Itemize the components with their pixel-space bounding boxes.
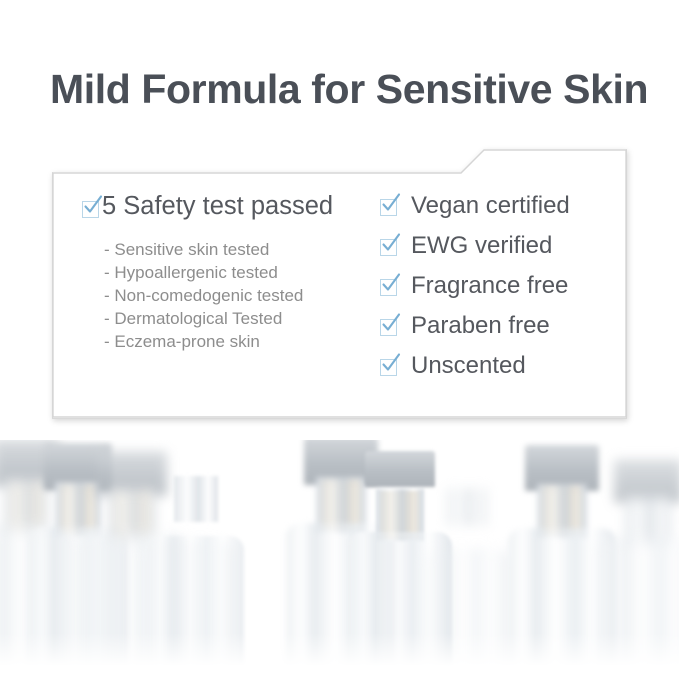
safety-column: 5 Safety test passed - Sensitive skin te… (82, 194, 382, 353)
check-glyph (380, 353, 402, 375)
safety-heading-row: 5 Safety test passed (82, 194, 382, 220)
checkbox-checked-icon (380, 239, 397, 256)
safety-heading-label: 5 Safety test passed (102, 194, 333, 220)
page-title: Mild Formula for Sensitive Skin (50, 66, 648, 113)
list-item: - Sensitive skin tested (104, 238, 382, 261)
list-item: - Dermatological Tested (104, 307, 382, 330)
product-claims-infographic: Mild Formula for Sensitive Skin 5 Safety… (0, 0, 679, 679)
check-glyph (380, 233, 402, 255)
checkbox-checked-icon (380, 199, 397, 216)
check-glyph (380, 193, 402, 215)
claims-list: Vegan certified EWG verified (380, 194, 615, 378)
list-item: - Eczema-prone skin (104, 330, 382, 353)
claim-label: Unscented (411, 354, 526, 378)
claim-label: Paraben free (411, 314, 550, 338)
list-item: EWG verified (380, 234, 615, 258)
claim-label: Vegan certified (411, 194, 570, 218)
checkbox-checked-icon (380, 359, 397, 376)
safety-sub-list: - Sensitive skin tested - Hypoallergenic… (104, 238, 382, 353)
list-item: - Hypoallergenic tested (104, 261, 382, 284)
claims-column: Vegan certified EWG verified (380, 194, 615, 378)
list-item: Unscented (380, 354, 615, 378)
list-item: Vegan certified (380, 194, 615, 218)
claim-label: EWG verified (411, 234, 552, 258)
checkbox-checked-icon (380, 319, 397, 336)
claim-label: Fragrance free (411, 274, 568, 298)
checkbox-checked-icon (380, 279, 397, 296)
check-glyph (82, 195, 104, 217)
glass-vials-photo (0, 440, 679, 679)
check-glyph (380, 273, 402, 295)
checkbox-checked-icon (82, 201, 99, 218)
claims-card: 5 Safety test passed - Sensitive skin te… (52, 148, 627, 419)
photo-bottom-fade (0, 633, 679, 679)
check-glyph (380, 313, 402, 335)
list-item: Fragrance free (380, 274, 615, 298)
list-item: - Non-comedogenic tested (104, 284, 382, 307)
list-item: Paraben free (380, 314, 615, 338)
